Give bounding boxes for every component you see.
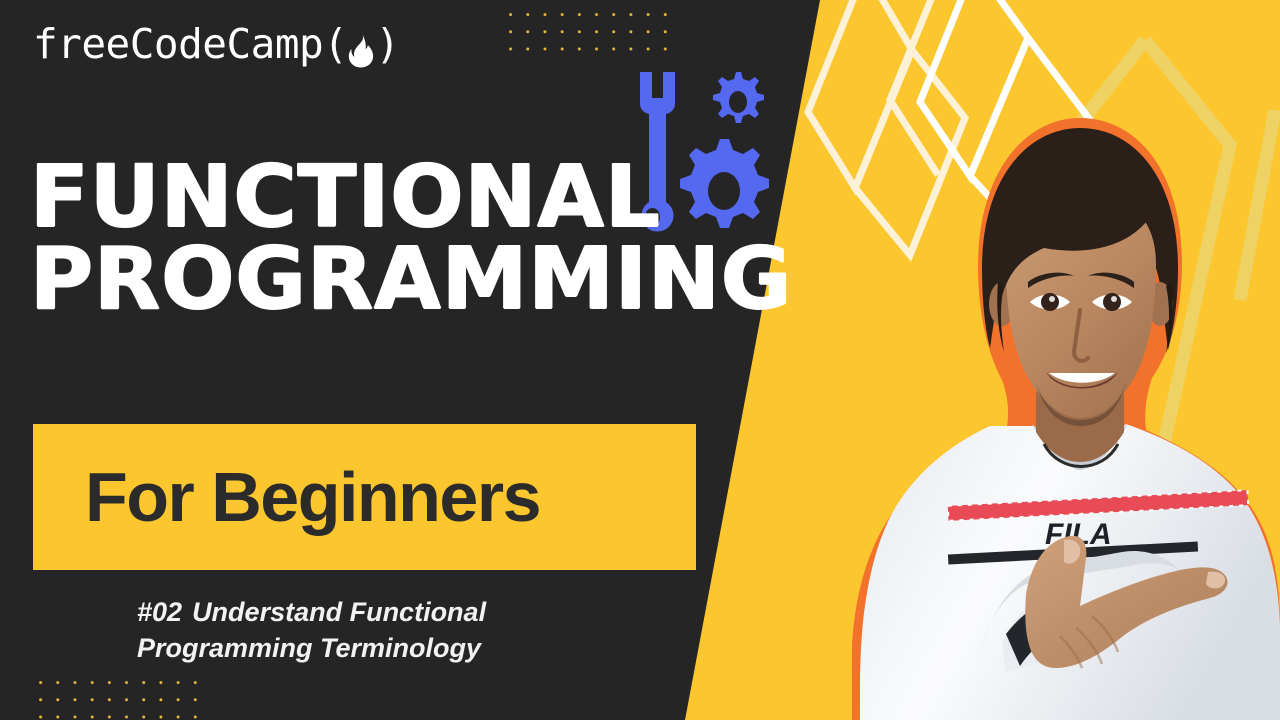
logo-open-paren: ( bbox=[323, 20, 347, 68]
banner-label: For Beginners bbox=[85, 457, 540, 537]
title-line-2: Programming bbox=[30, 240, 730, 320]
for-beginners-banner: For Beginners bbox=[33, 424, 696, 570]
presenter-photo: FILA bbox=[830, 96, 1280, 720]
main-title: Functional Programming bbox=[30, 158, 730, 320]
logo-wordmark: freeCodeCamp bbox=[33, 20, 323, 68]
freecodecamp-logo: freeCodeCamp ( ) bbox=[33, 20, 400, 68]
dot-grid-top bbox=[500, 4, 672, 56]
subtitle-line-1: Understand Functional bbox=[192, 597, 486, 627]
gear-small-icon bbox=[713, 72, 764, 123]
title-line-1: Functional bbox=[30, 158, 730, 238]
subtitle-line-2: Programming Terminology bbox=[137, 633, 481, 663]
logo-close-paren: ) bbox=[375, 20, 399, 68]
episode-number: #02 bbox=[137, 597, 182, 627]
flame-icon bbox=[348, 30, 374, 64]
thumbnail-canvas: freeCodeCamp ( ) Functional Programming bbox=[0, 0, 1280, 720]
episode-subtitle: #02Understand Functional Programming Ter… bbox=[137, 595, 677, 667]
dot-grid-bottom bbox=[30, 672, 202, 720]
